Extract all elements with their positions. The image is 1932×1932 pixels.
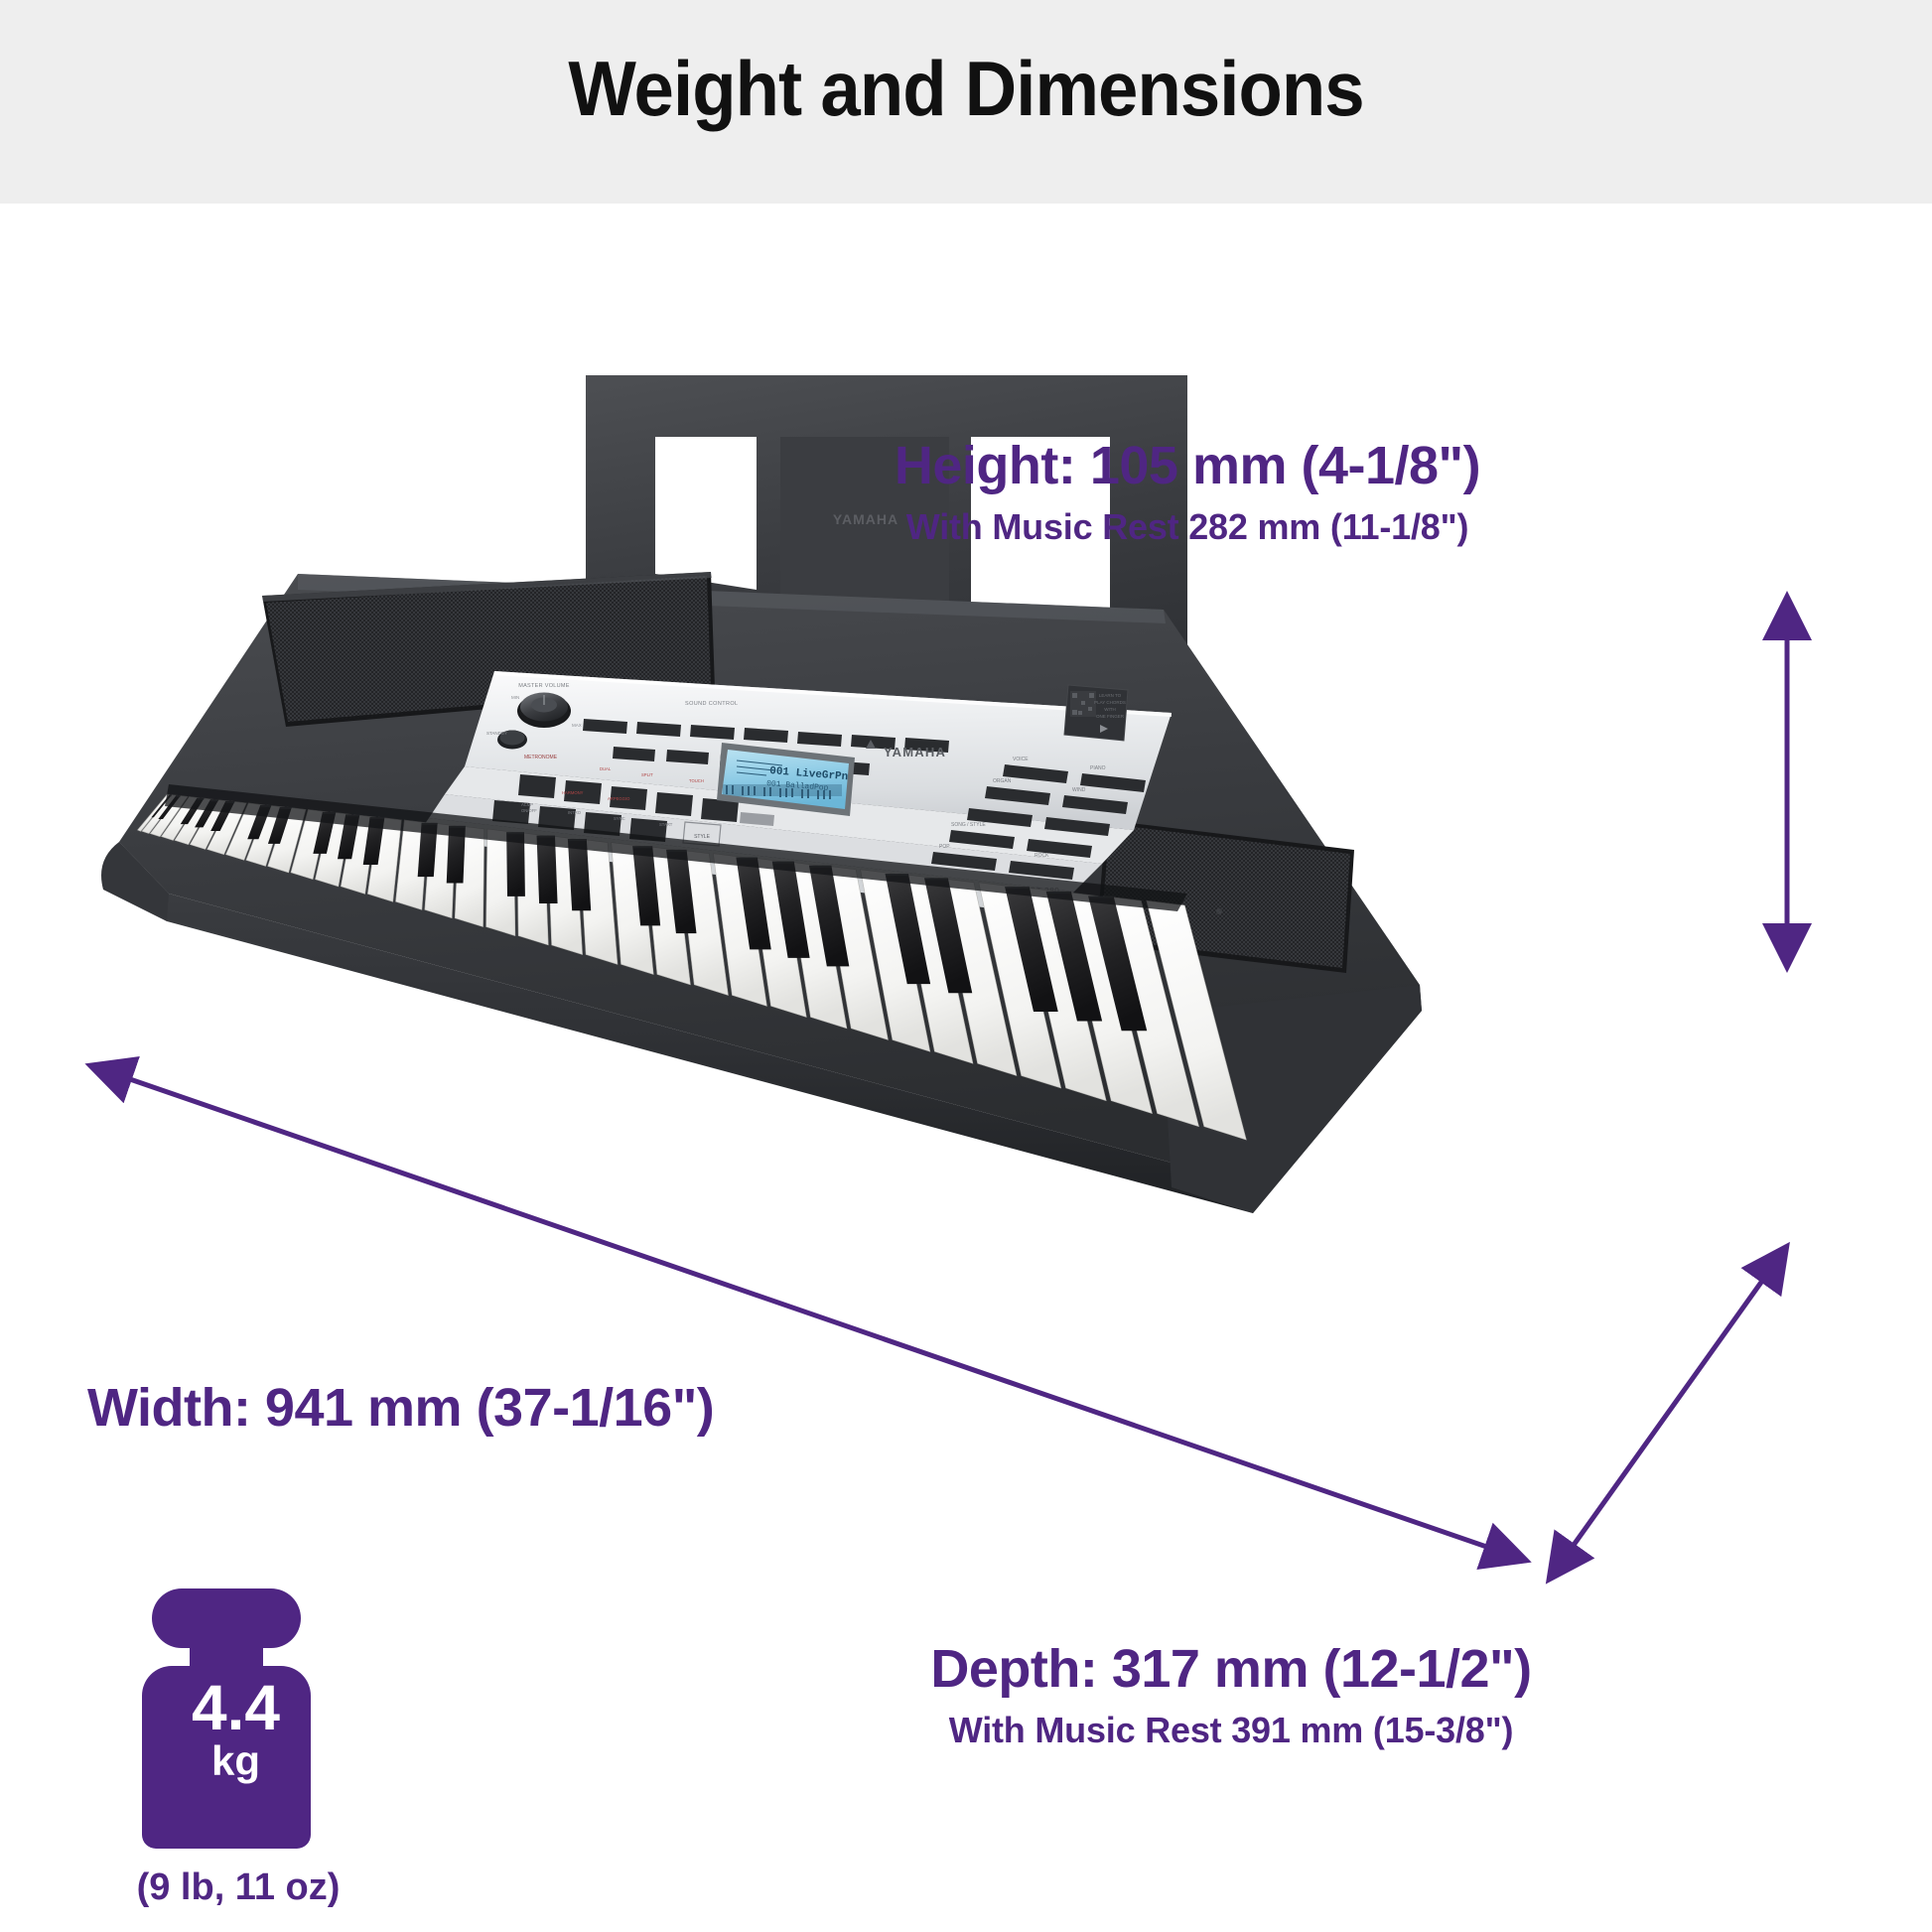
- svg-text:SPLIT: SPLIT: [641, 772, 653, 777]
- page-root: Weight and Dimensions: [0, 0, 1932, 1932]
- svg-text:INTRO: INTRO: [568, 810, 582, 815]
- svg-text:ONE FINGER: ONE FINGER: [1096, 714, 1125, 719]
- svg-text:YAMAHA: YAMAHA: [884, 745, 946, 759]
- weight-unit-text: kg: [139, 1740, 333, 1782]
- weight-imperial-text: (9 lb, 11 oz): [114, 1866, 362, 1909]
- svg-text:MIN: MIN: [511, 695, 519, 700]
- width-dimension-label: Width: 941 mm (37-1/16"): [87, 1377, 714, 1439]
- svg-text:PLAY CHORDS: PLAY CHORDS: [1094, 700, 1126, 705]
- svg-text:VOICE: VOICE: [1013, 757, 1029, 762]
- svg-text:YAMAHA: YAMAHA: [833, 511, 898, 527]
- svg-text:DUAL: DUAL: [600, 766, 612, 771]
- svg-text:ORGAN: ORGAN: [993, 778, 1012, 784]
- svg-text:SYNC: SYNC: [614, 816, 625, 821]
- height-primary-text: Height: 105 mm (4-1/8"): [895, 435, 1480, 496]
- svg-text:PIANO: PIANO: [1090, 765, 1106, 771]
- svg-text:TOUCH: TOUCH: [689, 778, 704, 783]
- promo-sticker: LEARN TO PLAY CHORDS WITH ONE FINGER: [1064, 685, 1128, 741]
- svg-text:SONG / STYLE: SONG / STYLE: [951, 822, 986, 828]
- depth-secondary-text: With Music Rest 391 mm (15-3/8"): [930, 1710, 1531, 1751]
- svg-text:MASTER VOLUME: MASTER VOLUME: [518, 683, 570, 689]
- depth-primary-text: Depth: 317 mm (12-1/2"): [930, 1638, 1531, 1700]
- svg-text:ON/OFF: ON/OFF: [521, 808, 537, 813]
- depth-dimension-label: Depth: 317 mm (12-1/2") With Music Rest …: [930, 1638, 1531, 1751]
- svg-text:METRONOME: METRONOME: [524, 755, 558, 760]
- svg-text:HARMONY: HARMONY: [562, 790, 584, 795]
- svg-text:STANDBY: STANDBY: [486, 731, 507, 736]
- weight-value-text: 4.4: [139, 1676, 333, 1739]
- svg-text:ACMP: ACMP: [521, 802, 533, 807]
- svg-text:LEARN TO: LEARN TO: [1099, 693, 1122, 698]
- svg-text:START: START: [659, 822, 673, 827]
- svg-text:WIND: WIND: [1072, 787, 1086, 793]
- height-dimension-label: Height: 105 mm (4-1/8") With Music Rest …: [895, 435, 1480, 548]
- svg-text:MAX: MAX: [572, 723, 582, 728]
- height-secondary-text: With Music Rest 282 mm (11-1/8"): [895, 506, 1480, 548]
- svg-text:POP: POP: [939, 844, 950, 850]
- svg-text:ROCK: ROCK: [1035, 853, 1049, 859]
- svg-text:STYLE: STYLE: [694, 834, 711, 840]
- svg-text:SOUND CONTROL: SOUND CONTROL: [685, 701, 738, 707]
- weight-badge: 4.4 kg: [139, 1579, 333, 1857]
- svg-text:ARPEGGIO: ARPEGGIO: [608, 796, 630, 801]
- svg-text:WITH: WITH: [1104, 707, 1116, 712]
